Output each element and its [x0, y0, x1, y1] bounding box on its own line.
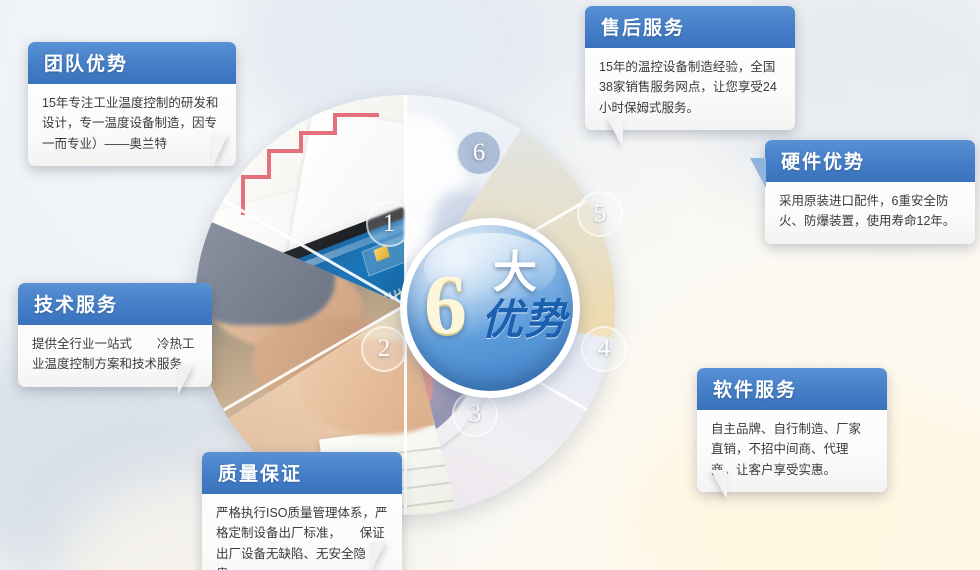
badge-script-text: 优势 — [481, 299, 567, 343]
card-hardware-title: 硬件优势 — [765, 140, 975, 182]
card-technical-tail — [178, 365, 193, 395]
card-hardware-body: 采用原装进口配件，6重安全防火、防爆装置，使用寿命12年。 — [765, 182, 975, 244]
card-quality-tail — [370, 542, 386, 570]
segment-number-4[interactable]: 4 — [581, 326, 627, 372]
center-badge-disc: 6 大 优势 — [407, 225, 573, 391]
segment-number-6[interactable]: 6 — [456, 130, 502, 176]
card-team-advantage[interactable]: 团队优势 15年专注工业温度控制的研发和设计，专一温度设备制造，因专一而专业）—… — [28, 42, 236, 166]
card-team-title: 团队优势 — [28, 42, 236, 84]
badge-number: 6 — [424, 261, 467, 347]
card-technical-title: 技术服务 — [18, 283, 212, 325]
card-technical-service[interactable]: 技术服务 提供全行业一站式 冷热工业温度控制方案和技术服务。 — [18, 283, 212, 387]
card-hardware-tail — [750, 158, 766, 188]
card-team-tail — [212, 134, 228, 168]
badge-unit-character: 大 — [493, 251, 537, 295]
card-hardware-advantage[interactable]: 硬件优势 采用原装进口配件，6重安全防火、防爆装置，使用寿命12年。 — [765, 140, 975, 244]
card-after-sales-tail — [607, 118, 623, 148]
infographic-canvas: 1 2 3 4 5 6 6 大 优势 团队优势 15年专注工业温度控制的研发和设… — [0, 0, 980, 570]
card-quality-assurance[interactable]: 质量保证 严格执行ISO质量管理体系，严格定制设备出厂标准， 保证出厂设备无缺陷… — [202, 452, 402, 570]
card-software-title: 软件服务 — [697, 368, 887, 410]
segment-number-1[interactable]: 1 — [366, 201, 412, 247]
card-after-sales-title: 售后服务 — [585, 6, 795, 48]
card-software-service[interactable]: 软件服务 自主品牌、自行制造、厂家直销，不招中间商、代理商，让客户享受实惠。 — [697, 368, 887, 492]
center-badge: 6 大 优势 — [400, 218, 580, 398]
segment-number-2[interactable]: 2 — [361, 326, 407, 372]
printed-red-trendline — [239, 103, 389, 223]
card-software-tail — [711, 470, 727, 500]
card-team-body: 15年专注工业温度控制的研发和设计，专一温度设备制造，因专一而专业）——奥兰特 — [28, 84, 236, 166]
card-after-sales-service[interactable]: 售后服务 15年的温控设备制造经验，全国38家销售服务网点，让您享受24小时保姆… — [585, 6, 795, 130]
segment-number-5[interactable]: 5 — [577, 191, 623, 237]
card-quality-title: 质量保证 — [202, 452, 402, 494]
